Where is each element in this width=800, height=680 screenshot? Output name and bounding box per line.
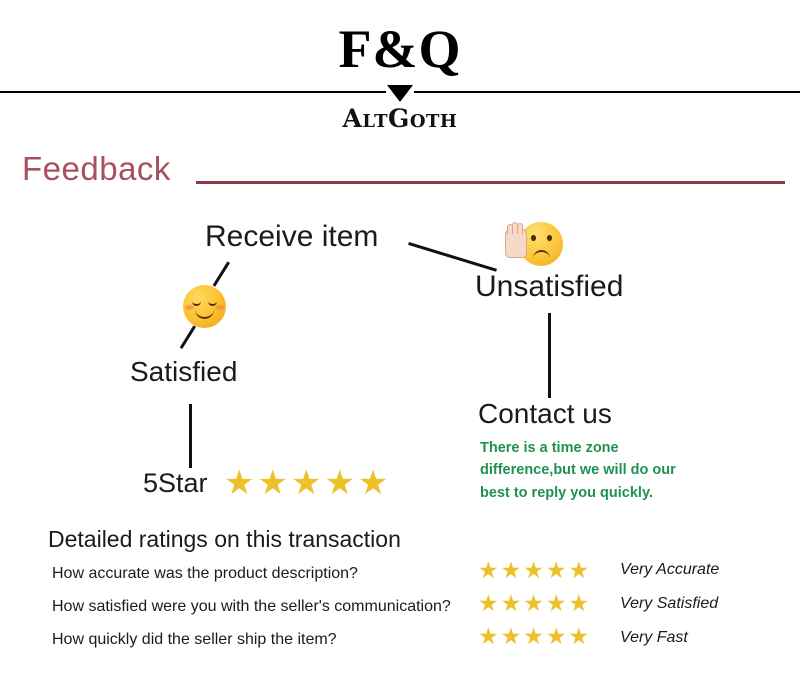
frown-eye-right (547, 235, 552, 241)
five-star-rating-stars: ★★★★★ (224, 466, 391, 500)
contact-us-note: There is a time zone difference,but we w… (480, 437, 695, 504)
frown-mouth (533, 250, 550, 262)
page-title: F&Q (0, 22, 800, 76)
connector-receive-to-unsatisfied (408, 242, 497, 272)
flow-node-unsatisfied: Unsatisfied (475, 272, 623, 302)
header-divider-left (0, 91, 386, 93)
raised-hand-icon (505, 228, 527, 258)
smiley-blush-right (215, 305, 224, 310)
flow-node-receive-item: Receive item (205, 222, 378, 252)
flow-node-satisfied: Satisfied (130, 358, 237, 386)
rating-label: Very Fast (620, 629, 688, 647)
smiley-mouth (195, 306, 214, 319)
detailed-ratings-title: Detailed ratings on this transaction (48, 526, 401, 553)
feedback-heading-rule (196, 181, 785, 184)
rating-stars: ★★★★★ (478, 592, 591, 615)
hand-finger-3 (517, 223, 523, 234)
smiling-face-emoji (183, 285, 226, 328)
rating-stars: ★★★★★ (478, 625, 591, 648)
header-divider-right (414, 91, 800, 93)
frown-eye-left (531, 235, 536, 241)
connector-satisfied-to-5star (189, 404, 192, 468)
rating-stars: ★★★★★ (478, 559, 591, 582)
brand-logo-text: AltGoth (0, 104, 800, 133)
feedback-heading: Feedback (22, 152, 171, 185)
connector-unsatisfied-to-contact (548, 313, 551, 398)
five-star-label: 5Star (143, 470, 208, 497)
contact-us-heading: Contact us (478, 400, 612, 428)
faq-feedback-infographic: F&Q AltGoth Feedback Receive item Satisf… (0, 0, 800, 680)
triangle-down-icon (387, 85, 413, 102)
rating-question: How accurate was the product description… (52, 565, 358, 583)
rating-question: How quickly did the seller ship the item… (52, 631, 337, 649)
connector-receive-to-satisfied (213, 261, 230, 286)
rating-label: Very Satisfied (620, 595, 718, 613)
connector-smiley-to-satisfied-label (180, 325, 196, 349)
rating-question: How satisfied were you with the seller's… (52, 598, 451, 616)
smiley-blush-left (185, 305, 194, 310)
rating-label: Very Accurate (620, 561, 719, 579)
smiley-eye-left (192, 298, 201, 306)
